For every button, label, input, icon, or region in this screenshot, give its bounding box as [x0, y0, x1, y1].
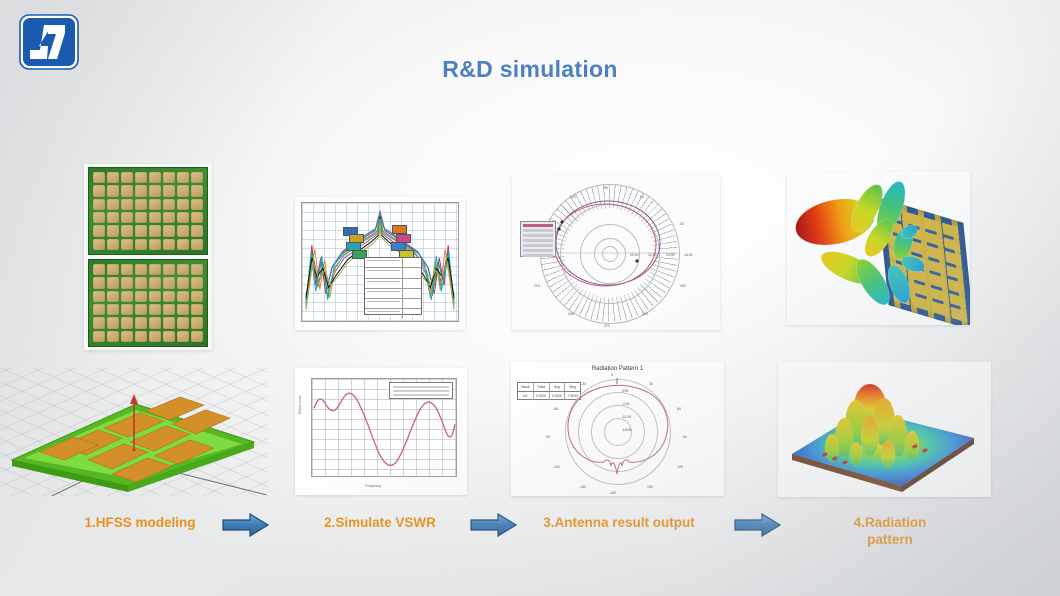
- svg-text:120: 120: [677, 465, 683, 469]
- pcb-pad: [121, 185, 133, 196]
- pcb-pad-grid: [93, 264, 203, 342]
- pcb-pad: [93, 264, 105, 275]
- svg-text:270: 270: [604, 324, 610, 328]
- pcb-pad: [93, 199, 105, 210]
- pcb-pad: [121, 304, 133, 315]
- pcb-pad: [177, 172, 189, 183]
- radiation-pattern-polar-plot: Radiation Pattern 1 Name Theta Ang Mag m…: [511, 362, 724, 496]
- farfield-lobe-shapes: [787, 172, 970, 325]
- pcb-pad: [121, 277, 133, 288]
- pcb-pad: [163, 185, 175, 196]
- pcb-pad: [121, 239, 133, 250]
- pcb-pad: [191, 317, 203, 328]
- pcb-pad: [135, 212, 147, 223]
- svg-text:-30: -30: [581, 382, 586, 386]
- pcb-pad: [177, 331, 189, 342]
- arrow-2-3[interactable]: [470, 512, 517, 538]
- svg-text:300: 300: [642, 312, 648, 316]
- pcb-pad: [149, 199, 161, 210]
- pcb-pad: [93, 277, 105, 288]
- pcb-pad: [135, 199, 147, 210]
- caption-step-3: 3.Antenna result output: [512, 514, 726, 531]
- pcb-pad: [107, 185, 119, 196]
- pcb-pad: [163, 264, 175, 275]
- trace-legend-box: [389, 382, 453, 399]
- svg-text:60: 60: [640, 195, 644, 199]
- pcb-pad: [93, 304, 105, 315]
- caption-step-4: 4.Radiation pattern: [800, 514, 980, 548]
- pcb-pad: [93, 172, 105, 183]
- svg-text:60: 60: [677, 407, 681, 411]
- pcb-pad: [107, 264, 119, 275]
- pcb-pad: [107, 331, 119, 342]
- svg-text:30: 30: [649, 382, 653, 386]
- pcb-pad: [163, 239, 175, 250]
- caption-step-1: 1.HFSS modeling: [60, 514, 220, 531]
- svg-text:-90: -90: [545, 435, 550, 439]
- trace-legend-box: [520, 221, 556, 257]
- 3d-farfield-radiation-lobes: [787, 172, 970, 325]
- pcb-pad: [107, 199, 119, 210]
- pcb-pad: [163, 317, 175, 328]
- polar-impedance-chart: 10.00 12.00 14.00 16.00 90 270 180 120 6…: [512, 175, 720, 330]
- pcb-pad: [121, 331, 133, 342]
- pcb-pad: [93, 239, 105, 250]
- svg-text:-180: -180: [609, 491, 616, 495]
- pcb-pad: [177, 239, 189, 250]
- pcb-pad: [177, 264, 189, 275]
- svg-text:-120: -120: [553, 465, 560, 469]
- pcb-pad: [177, 199, 189, 210]
- svg-text:240: 240: [568, 312, 574, 316]
- pcb-pad: [135, 304, 147, 315]
- pcb-pad: [135, 264, 147, 275]
- svg-text:30: 30: [680, 222, 684, 226]
- svg-text:16.00: 16.00: [684, 253, 693, 257]
- pcb-pad: [93, 317, 105, 328]
- pcb-pad: [121, 317, 133, 328]
- svg-text:90: 90: [604, 186, 608, 190]
- caption-step-2: 2.Simulate VSWR: [290, 514, 470, 531]
- pcb-pad: [163, 331, 175, 342]
- arrow-3-4[interactable]: [734, 512, 781, 538]
- pcb-pad: [121, 225, 133, 236]
- caption-step-4-line1: 4.Radiation: [800, 514, 980, 531]
- pcb-pad: [163, 225, 175, 236]
- pcb-pad: [191, 225, 203, 236]
- pcb-pad: [191, 199, 203, 210]
- svg-text:14.00: 14.00: [666, 253, 675, 257]
- pcb-pad: [163, 277, 175, 288]
- pcb-pad: [149, 304, 161, 315]
- svg-text:120: 120: [570, 195, 576, 199]
- pcb-pad: [191, 239, 203, 250]
- pcb-pad: [163, 212, 175, 223]
- pcb-pad: [135, 239, 147, 250]
- pcb-pad: [177, 212, 189, 223]
- hfss-3d-patch-array-model: [0, 368, 268, 496]
- pcb-pad: [163, 304, 175, 315]
- pcb-pad: [149, 225, 161, 236]
- pcb-pad: [93, 331, 105, 342]
- pcb-pad: [107, 172, 119, 183]
- plot-area: [311, 378, 457, 477]
- pcb-pad: [135, 277, 147, 288]
- pcb-antenna-array-photo: [84, 164, 212, 350]
- pcb-pad: [135, 291, 147, 302]
- plot-area: [301, 202, 459, 322]
- pcb-pad: [135, 331, 147, 342]
- substrate-and-patches: [0, 368, 268, 496]
- pcb-pad: [149, 291, 161, 302]
- vswr-return-loss-curve: Return Loss Frequency: [295, 368, 467, 495]
- pcb-pad: [107, 304, 119, 315]
- pcb-pad: [107, 239, 119, 250]
- pcb-pad: [149, 317, 161, 328]
- pcb-pad: [149, 264, 161, 275]
- pcb-pad: [191, 212, 203, 223]
- pcb-pad: [135, 185, 147, 196]
- pcb-pad: [191, 291, 203, 302]
- pcb-pad: [149, 239, 161, 250]
- pcb-pad: [121, 212, 133, 223]
- pcb-pad: [135, 225, 147, 236]
- x-axis-label: Frequency: [365, 484, 381, 488]
- svg-text:-60: -60: [553, 407, 558, 411]
- svg-text:150: 150: [647, 485, 653, 489]
- pcb-pad: [149, 331, 161, 342]
- pcb-pad: [177, 291, 189, 302]
- svg-text:-150: -150: [579, 485, 586, 489]
- pcb-pad: [107, 317, 119, 328]
- pcb-pad: [177, 225, 189, 236]
- radial-label-3: -18.00: [622, 428, 632, 432]
- pcb-pad: [177, 304, 189, 315]
- pcb-pad: [163, 199, 175, 210]
- pcb-panel-top: [88, 167, 208, 255]
- svg-text:12.00: 12.00: [648, 253, 657, 257]
- pcb-pad: [121, 199, 133, 210]
- pcb-pad: [191, 185, 203, 196]
- radial-label-1: -4.00: [622, 402, 630, 406]
- pcb-pad: [121, 264, 133, 275]
- pcb-pad: [191, 304, 203, 315]
- pcb-pad: [93, 291, 105, 302]
- pcb-pad: [121, 291, 133, 302]
- radial-label-0: 3.00: [622, 389, 629, 393]
- pcb-pad: [107, 277, 119, 288]
- pcb-panel-bottom: [88, 259, 208, 347]
- svg-text:0: 0: [611, 373, 613, 377]
- pcb-pad: [149, 277, 161, 288]
- y-axis-label: Return Loss: [298, 396, 302, 414]
- radial-label-2: -11.00: [622, 415, 631, 419]
- field-surface: [778, 362, 991, 497]
- pcb-pad: [149, 212, 161, 223]
- svg-text:10.00: 10.00: [630, 253, 639, 257]
- pcb-pad: [149, 185, 161, 196]
- pcb-pad: [191, 331, 203, 342]
- pcb-pad: [107, 225, 119, 236]
- svg-text:90: 90: [683, 435, 687, 439]
- pcb-pad: [177, 277, 189, 288]
- 3d-surface-current-field-plot: [778, 362, 991, 497]
- slide-canvas: R&D simulation: [0, 0, 1060, 596]
- pcb-pad: [135, 172, 147, 183]
- pcb-pad: [191, 172, 203, 183]
- marker-readout-table: [364, 257, 422, 314]
- caption-step-4-line2: pattern: [800, 531, 980, 548]
- pcb-pad: [93, 185, 105, 196]
- pcb-pad: [191, 264, 203, 275]
- pcb-pad: [191, 277, 203, 288]
- pcb-pad: [121, 172, 133, 183]
- pcb-pad: [107, 212, 119, 223]
- pcb-pad: [93, 225, 105, 236]
- pcb-pad: [177, 317, 189, 328]
- arrow-1-2[interactable]: [222, 512, 269, 538]
- pcb-pad: [163, 291, 175, 302]
- pcb-pad: [107, 291, 119, 302]
- pcb-pad-grid: [93, 172, 203, 250]
- page-title: R&D simulation: [0, 56, 1060, 83]
- pcb-pad: [149, 172, 161, 183]
- multi-trace-s-parameter-plot: [295, 197, 465, 330]
- svg-text:210: 210: [534, 284, 540, 288]
- pcb-pad: [163, 172, 175, 183]
- pcb-pad: [135, 317, 147, 328]
- pcb-pad: [177, 185, 189, 196]
- svg-text:330: 330: [680, 284, 686, 288]
- pattern-trace: 0 -30 30 -60 60 -90 90 -120 120 -150 150…: [511, 362, 724, 496]
- pcb-pad: [93, 212, 105, 223]
